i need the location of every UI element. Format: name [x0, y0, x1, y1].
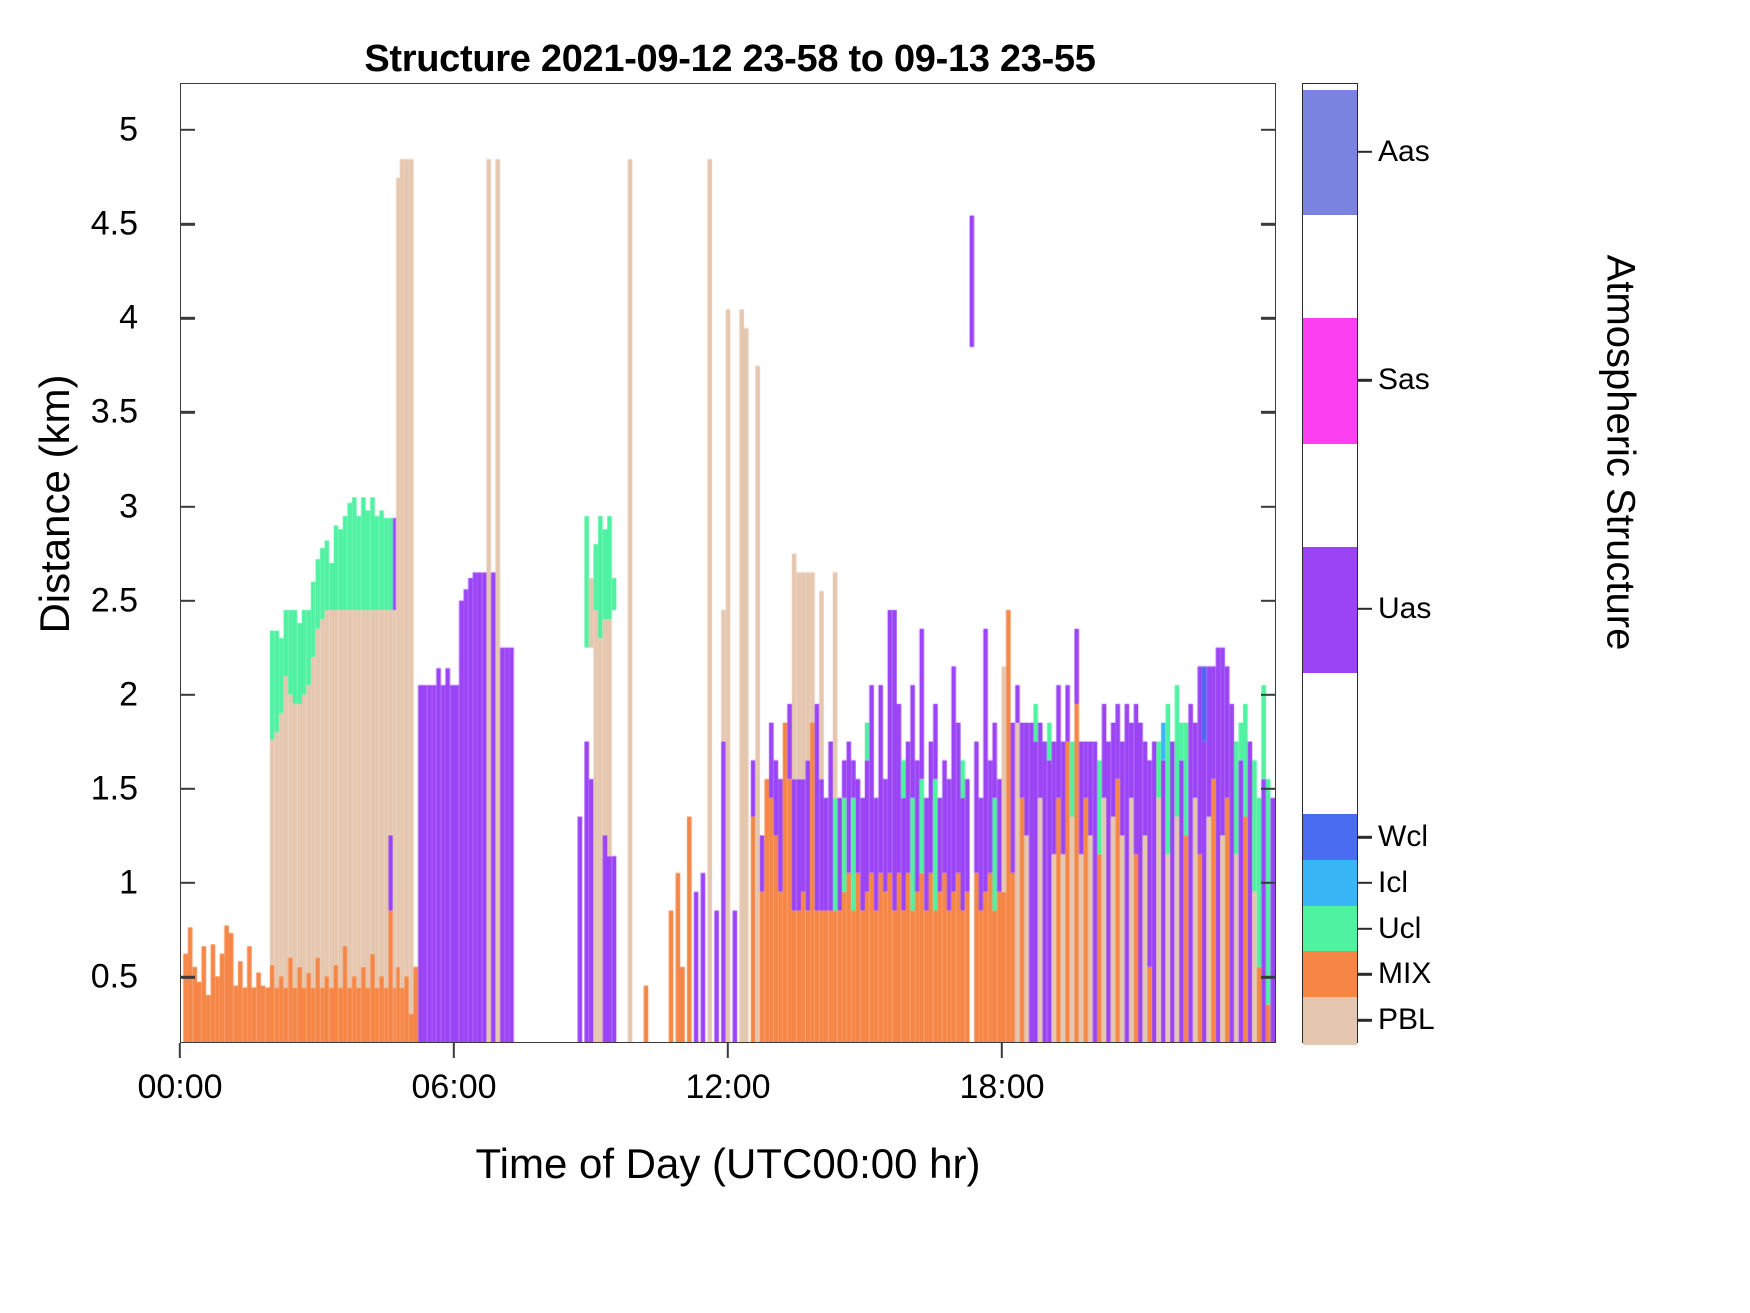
colorbar-label-aas: Aas — [1378, 135, 1430, 169]
x-tick-mark — [453, 1043, 455, 1058]
y-tick-mark-right — [1261, 976, 1276, 978]
y-tick-mark — [180, 788, 195, 790]
colorbar-tick — [1358, 836, 1372, 838]
colorbar-swatch-aas — [1303, 90, 1357, 216]
y-tick-mark-right — [1261, 411, 1276, 413]
y-tick-label: 3 — [119, 487, 138, 526]
colorbar-swatch-icl — [1303, 860, 1357, 908]
y-tick-label: 5 — [119, 111, 138, 150]
page-title: Structure 2021-09-12 23-58 to 09-13 23-5… — [180, 38, 1280, 81]
colorbar — [1302, 83, 1358, 1043]
y-tick-mark — [180, 411, 195, 413]
y-tick-mark — [180, 223, 195, 225]
y-tick-label: 4.5 — [91, 205, 138, 244]
y-tick-mark — [180, 976, 195, 978]
y-axis-label: Distance (km) — [31, 274, 79, 734]
y-tick-mark-right — [1261, 882, 1276, 884]
y-tick-label: 1.5 — [91, 769, 138, 808]
y-tick-mark-right — [1261, 129, 1276, 131]
x-axis-label: Time of Day (UTC00:00 hr) — [180, 1140, 1276, 1188]
y-tick-mark — [180, 317, 195, 319]
colorbar-tick — [1358, 882, 1372, 884]
y-tick-mark-right — [1261, 505, 1276, 507]
y-tick-label: 2 — [119, 675, 138, 714]
y-tick-mark-right — [1261, 317, 1276, 319]
colorbar-tick — [1358, 1019, 1372, 1021]
x-tick-mark — [179, 1043, 181, 1058]
y-tick-mark-right — [1261, 788, 1276, 790]
y-tick-mark — [180, 599, 195, 601]
y-tick-mark-right — [1261, 599, 1276, 601]
y-tick-label: 3.5 — [91, 393, 138, 432]
colorbar-tick — [1358, 928, 1372, 930]
y-tick-label: 4 — [119, 299, 138, 338]
colorbar-tick — [1358, 379, 1372, 381]
y-tick-label: 2.5 — [91, 581, 138, 620]
x-tick-mark — [1001, 1043, 1003, 1058]
colorbar-label-mix: MIX — [1378, 957, 1431, 991]
y-tick-mark-right — [1261, 694, 1276, 696]
colorbar-label-sas: Sas — [1378, 363, 1430, 397]
structure-timeheight-canvas — [181, 84, 1275, 1042]
y-tick-label: 0.5 — [91, 958, 138, 997]
colorbar-swatch-pbl — [1303, 997, 1357, 1045]
colorbar-swatch-mix — [1303, 951, 1357, 999]
colorbar-label-ucl: Ucl — [1378, 912, 1421, 946]
colorbar-label-icl: Icl — [1378, 866, 1408, 900]
colorbar-axis-label: Atmospheric Structure — [1598, 223, 1643, 683]
y-tick-mark — [180, 505, 195, 507]
colorbar-label-uas: Uas — [1378, 592, 1431, 626]
colorbar-swatch-sas — [1303, 318, 1357, 444]
y-tick-mark — [180, 882, 195, 884]
chart-root: Structure 2021-09-12 23-58 to 09-13 23-5… — [0, 0, 1750, 1313]
x-tick-label: 12:00 — [685, 1068, 770, 1107]
colorbar-tick — [1358, 608, 1372, 610]
y-tick-label: 1 — [119, 864, 138, 903]
x-tick-label: 18:00 — [959, 1068, 1044, 1107]
colorbar-tick — [1358, 973, 1372, 975]
x-tick-label: 00:00 — [137, 1068, 222, 1107]
x-tick-mark — [727, 1043, 729, 1058]
x-tick-label: 06:00 — [411, 1068, 496, 1107]
colorbar-swatch-uas — [1303, 547, 1357, 673]
colorbar-label-pbl: PBL — [1378, 1003, 1435, 1037]
plot-area — [180, 83, 1276, 1043]
colorbar-tick — [1358, 150, 1372, 152]
y-tick-mark — [180, 129, 195, 131]
colorbar-swatch-wcl — [1303, 814, 1357, 862]
y-tick-mark-right — [1261, 223, 1276, 225]
colorbar-label-wcl: Wcl — [1378, 820, 1428, 854]
colorbar-swatch-ucl — [1303, 906, 1357, 954]
y-tick-mark — [180, 694, 195, 696]
